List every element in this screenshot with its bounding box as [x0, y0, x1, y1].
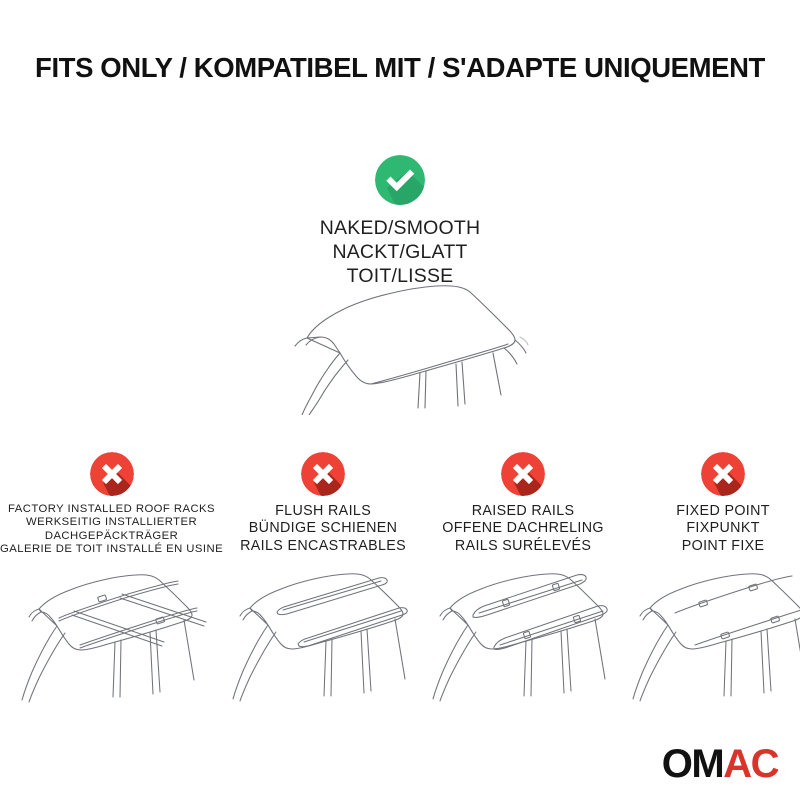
- excluded-labels-factory-installed-roof-racks: FACTORY INSTALLED ROOF RACKS WERKSEITIG …: [0, 503, 223, 556]
- excluded-label-line: POINT FIXE: [676, 538, 770, 555]
- logo-text-dark: OM: [662, 744, 723, 784]
- approved-roof-type-labels: NAKED/SMOOTH NACKT/GLATT TOIT/LISSE: [320, 217, 481, 288]
- factory-roof-rack-illustration: [12, 562, 212, 707]
- excluded-item-raised-rails: RAISED RAILS OFFENE DACHRELING RAILS SUR…: [423, 452, 623, 706]
- excluded-label-line: FACTORY INSTALLED ROOF RACKS: [0, 503, 223, 516]
- x-circle-icon: [701, 452, 745, 496]
- excluded-labels-fixed-point: FIXED POINT FIXPUNKT POINT FIXE: [676, 503, 770, 555]
- page-title: FITS ONLY / KOMPATIBEL MIT / S'ADAPTE UN…: [0, 52, 800, 84]
- omac-logo: OMAC: [662, 744, 778, 784]
- excluded-labels-flush-rails: FLUSH RAILS BÜNDIGE SCHIENEN RAILS ENCAS…: [240, 503, 406, 555]
- excluded-label-line: BÜNDIGE SCHIENEN: [240, 520, 406, 537]
- x-circle-icon: [301, 452, 345, 496]
- approved-label-de: NACKT/GLATT: [332, 241, 467, 263]
- excluded-label-line: OFFENE DACHRELING: [442, 520, 604, 537]
- excluded-roof-types-row: FACTORY INSTALLED ROOF RACKS WERKSEITIG …: [0, 452, 800, 707]
- excluded-label-line: FLUSH RAILS: [240, 503, 406, 520]
- excluded-item-fixed-point: FIXED POINT FIXPUNKT POINT FIXE: [623, 452, 800, 706]
- excluded-label-line: RAILS ENCASTRABLES: [240, 538, 406, 555]
- naked-smooth-roof-illustration: [268, 280, 568, 415]
- excluded-label-line: RAILS SURÉLEVÉS: [442, 538, 604, 555]
- excluded-label-line: GALERIE DE TOIT INSTALLÉ EN USINE: [0, 543, 223, 556]
- excluded-label-line: RAISED RAILS: [442, 503, 604, 520]
- excluded-label-line: FIXPUNKT: [676, 520, 770, 537]
- excluded-label-line: FIXED POINT: [676, 503, 770, 520]
- excluded-label-line: WERKSEITIG INSTALLIERTER: [0, 516, 223, 529]
- excluded-item-factory-installed-roof-racks: FACTORY INSTALLED ROOF RACKS WERKSEITIG …: [0, 452, 223, 707]
- fixed-point-illustration: [623, 561, 800, 706]
- x-circle-icon: [501, 452, 545, 496]
- approved-roof-type-block: NAKED/SMOOTH NACKT/GLATT TOIT/LISSE: [0, 155, 800, 288]
- excluded-labels-raised-rails: RAISED RAILS OFFENE DACHRELING RAILS SUR…: [442, 503, 604, 555]
- raised-rails-illustration: [423, 561, 623, 706]
- approved-label-en: NAKED/SMOOTH: [320, 217, 481, 239]
- excluded-item-flush-rails: FLUSH RAILS BÜNDIGE SCHIENEN RAILS ENCAS…: [223, 452, 423, 706]
- check-circle-icon: [375, 155, 425, 205]
- excluded-label-line: DACHGEPÄCKTRÄGER: [0, 530, 223, 543]
- x-circle-icon: [90, 452, 134, 496]
- logo-text-accent: AC: [723, 744, 778, 784]
- flush-rails-illustration: [223, 561, 423, 706]
